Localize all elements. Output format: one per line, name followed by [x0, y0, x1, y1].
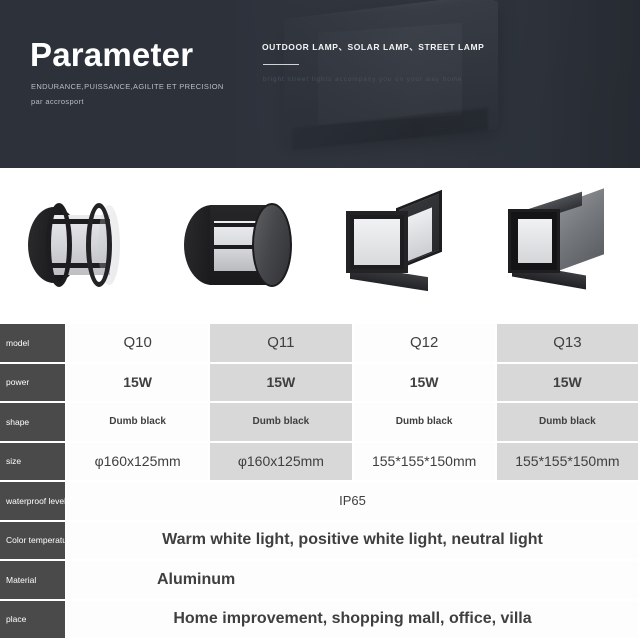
q10-lamp-image [14, 193, 146, 297]
cell-value: φ160x125mm [66, 442, 209, 482]
table-row: Color temperature Warm white light, posi… [0, 521, 639, 561]
cell-value: φ160x125mm [209, 442, 352, 482]
cell-value: Q12 [353, 323, 496, 363]
table-row: waterproof level IP65 [0, 481, 639, 521]
row-label: Material [0, 560, 66, 600]
product-image-cell[interactable] [320, 168, 480, 322]
banner-divider-rule [263, 64, 299, 65]
cell-value: 15W [353, 363, 496, 403]
banner-category-kicker: OUTDOOR LAMP、SOLAR LAMP、STREET LAMP [262, 41, 484, 53]
table-row: place Home improvement, shopping mall, o… [0, 600, 639, 640]
banner-subtitle-line2: par accrosport [31, 97, 84, 106]
table-row: shape Dumb black Dumb black Dumb black D… [0, 402, 639, 442]
row-label: waterproof level [0, 481, 66, 521]
cell-value: IP65 [66, 481, 639, 521]
row-label: Color temperature [0, 521, 66, 561]
banner-lamp-photo [232, 0, 640, 168]
cell-value: Home improvement, shopping mall, office,… [66, 600, 639, 640]
product-image-cell[interactable] [0, 168, 160, 322]
cell-value: 15W [496, 363, 639, 403]
q13-lamp-image [494, 193, 626, 297]
page-title: Parameter [30, 36, 193, 74]
cell-value: Dumb black [209, 402, 352, 442]
q10-ring-shape [46, 203, 72, 287]
product-image-strip [0, 168, 640, 322]
cell-value: Dumb black [496, 402, 639, 442]
row-label: model [0, 323, 66, 363]
cell-value: Aluminum [66, 560, 639, 600]
banner-overlay [232, 0, 640, 168]
table-row: Material Aluminum [0, 560, 639, 600]
row-label: place [0, 600, 66, 640]
cell-value: 15W [66, 363, 209, 403]
row-label: size [0, 442, 66, 482]
cell-value: Q11 [209, 323, 352, 363]
row-label: power [0, 363, 66, 403]
q12-diffuser-shape [354, 219, 400, 265]
table-row: model Q10 Q11 Q12 Q13 [0, 323, 639, 363]
cell-value: Q13 [496, 323, 639, 363]
banner-tagline: bright street lights accompany you on yo… [263, 76, 462, 83]
cell-value: 155*155*150mm [353, 442, 496, 482]
spec-table-body: model Q10 Q11 Q12 Q13 power 15W 15W 15W … [0, 323, 639, 639]
cell-value: Q10 [66, 323, 209, 363]
cell-value: 15W [209, 363, 352, 403]
q12-lamp-image [334, 193, 466, 297]
q10-ring-shape [86, 203, 112, 287]
q11-lamp-image [174, 193, 306, 297]
cell-value: Warm white light, positive white light, … [66, 521, 639, 561]
banner-subtitle-line1: ENDURANCE,PUISSANCE,AGILITE ET PRECISION [31, 82, 224, 91]
product-image-cell[interactable] [480, 168, 640, 322]
q13-diffuser-shape [518, 219, 552, 263]
product-parameter-page: Parameter ENDURANCE,PUISSANCE,AGILITE ET… [0, 0, 640, 640]
table-row: size φ160x125mm φ160x125mm 155*155*150mm… [0, 442, 639, 482]
q11-cap-shape [252, 203, 292, 287]
page-banner: Parameter ENDURANCE,PUISSANCE,AGILITE ET… [0, 0, 640, 168]
cell-value: Dumb black [353, 402, 496, 442]
cell-value: 155*155*150mm [496, 442, 639, 482]
cell-value: Dumb black [66, 402, 209, 442]
specification-table: model Q10 Q11 Q12 Q13 power 15W 15W 15W … [0, 322, 640, 640]
table-row: power 15W 15W 15W 15W [0, 363, 639, 403]
product-image-cell[interactable] [160, 168, 320, 322]
row-label: shape [0, 402, 66, 442]
